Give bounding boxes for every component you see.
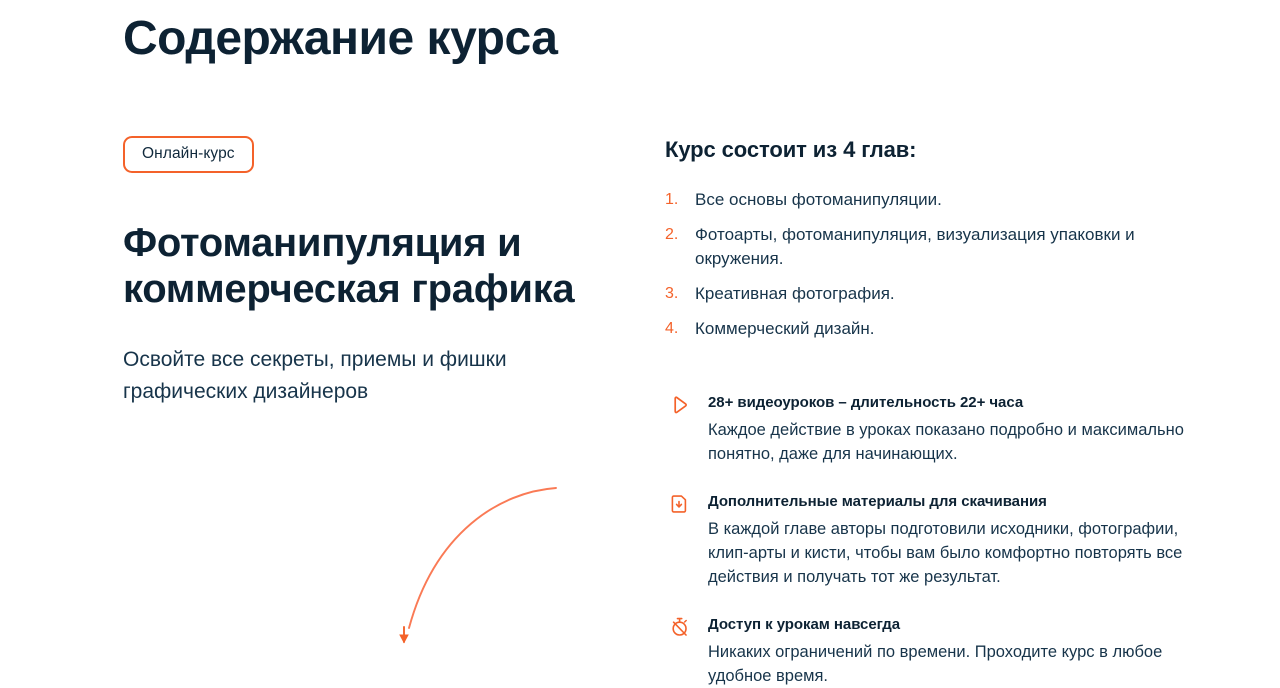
play-triangle-icon xyxy=(669,394,691,416)
file-download-icon xyxy=(669,493,691,515)
feature-description: Никаких ограничений по времени. Проходит… xyxy=(708,640,1190,688)
feature-title: 28+ видеоуроков – длительность 22+ часа xyxy=(708,393,1190,413)
feature-title: Дополнительные материалы для скачивания xyxy=(708,492,1190,512)
list-item: 2. Фотоарты, фотоманипуляция, визуализац… xyxy=(665,223,1190,270)
right-column: Курс состоит из 4 глав: 1. Все основы фо… xyxy=(665,136,1190,688)
features-list: 28+ видеоуроков – длительность 22+ часа … xyxy=(665,393,1190,688)
feature-downloadable-materials: Дополнительные материалы для скачивания … xyxy=(665,492,1190,590)
chapter-number: 2. xyxy=(665,223,695,246)
stopwatch-crossed-icon xyxy=(669,616,691,638)
chapter-number: 1. xyxy=(665,188,695,211)
list-item: 1. Все основы фотоманипуляции. xyxy=(665,188,1190,211)
feature-lifetime-access: Доступ к урокам навсегда Никаких огранич… xyxy=(665,615,1190,688)
feature-video-lessons: 28+ видеоуроков – длительность 22+ часа … xyxy=(665,393,1190,467)
feature-description: В каждой главе авторы подготовили исходн… xyxy=(708,517,1190,590)
chapter-number: 3. xyxy=(665,282,695,305)
feature-description: Каждое действие в уроках показано подроб… xyxy=(708,418,1190,467)
page-title: Содержание курса xyxy=(123,12,557,66)
list-item: 4. Коммерческий дизайн. xyxy=(665,317,1190,340)
course-content-page: Содержание курса Онлайн-курс Фотоманипул… xyxy=(0,0,1280,650)
chapter-number: 4. xyxy=(665,317,695,340)
list-item: 3. Креативная фотография. xyxy=(665,282,1190,305)
chapter-text: Фотоарты, фотоманипуляция, визуализация … xyxy=(695,223,1187,270)
course-subtitle: Освойте все секреты, приемы и фишки граф… xyxy=(123,344,523,409)
chapters-list: 1. Все основы фотоманипуляции. 2. Фотоар… xyxy=(665,188,1190,341)
feature-title: Доступ к урокам навсегда xyxy=(708,615,1190,635)
chapter-text: Коммерческий дизайн. xyxy=(695,317,1187,340)
online-course-badge: Онлайн-курс xyxy=(123,136,254,173)
curved-arrow-down-icon xyxy=(380,470,580,655)
chapter-text: Креативная фотография. xyxy=(695,282,1187,305)
left-column: Онлайн-курс Фотоманипуляция и коммерческ… xyxy=(123,136,593,409)
chapter-text: Все основы фотоманипуляции. xyxy=(695,188,1187,211)
chapters-title: Курс состоит из 4 глав: xyxy=(665,136,1190,165)
course-heading: Фотоманипуляция и коммерческая графика xyxy=(123,220,593,312)
